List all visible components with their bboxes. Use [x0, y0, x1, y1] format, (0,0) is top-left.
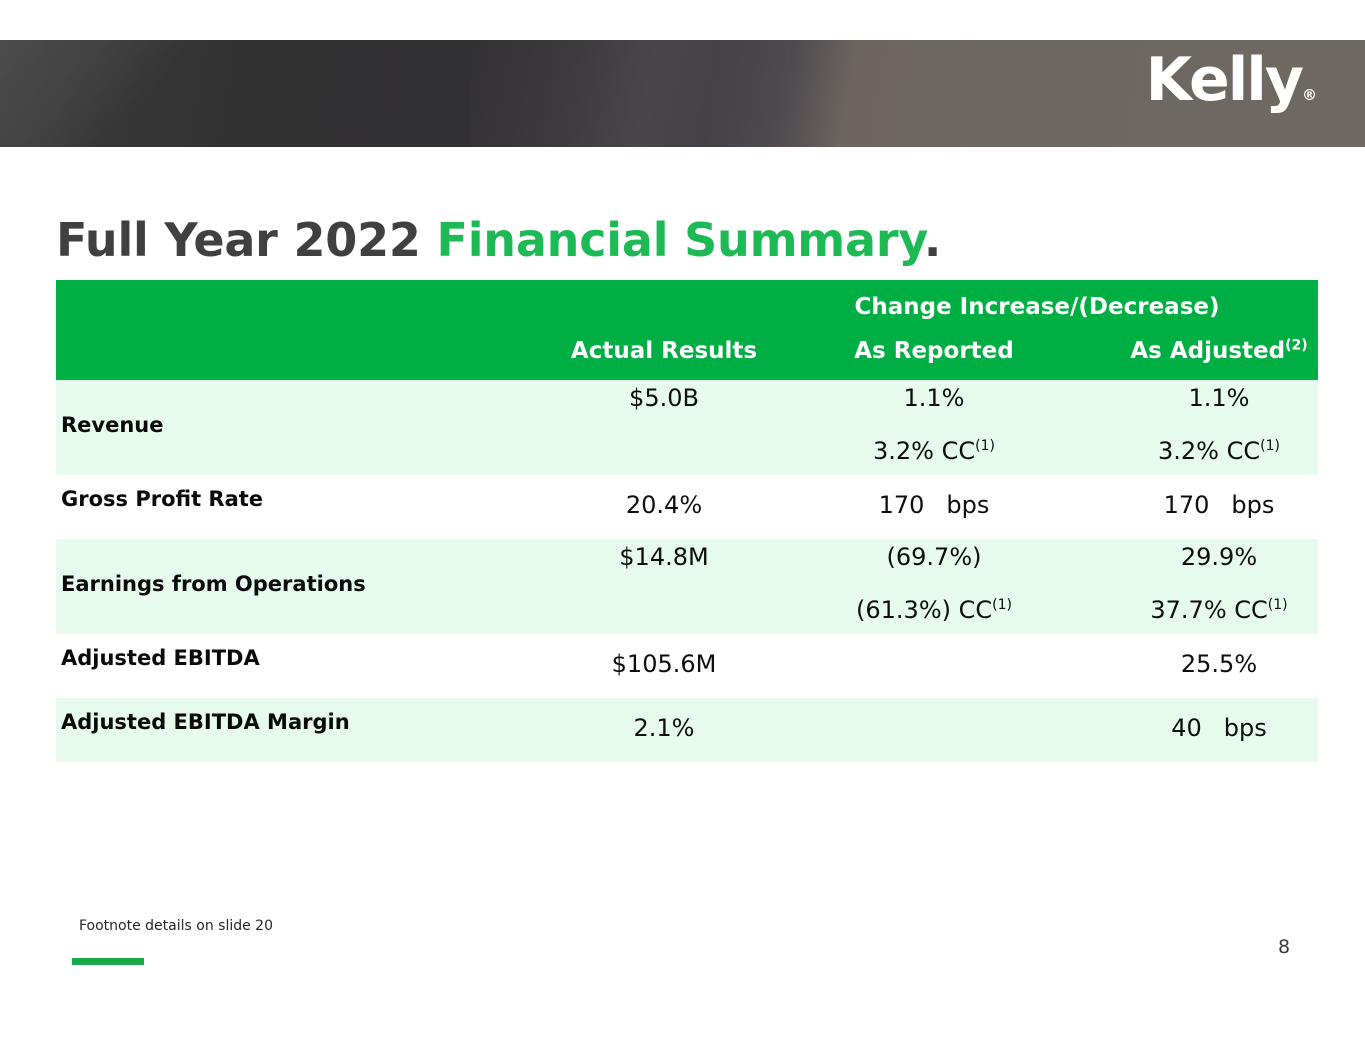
- green-accent-bar: [72, 958, 144, 965]
- row-label-gross-profit-rate: Gross Profit Rate: [61, 487, 263, 511]
- row-label-adjusted-ebitda: Adjusted EBITDA: [61, 646, 260, 670]
- cell-revenue-adjusted-cc-value: 3.2% CC: [1158, 437, 1260, 465]
- table-row: Revenue $5.0B 1.1% 1.1% 3.2% CC(1) 3.2% …: [56, 380, 1318, 475]
- cell-gross-profit-rate-adjusted: 170bps: [1041, 491, 1365, 519]
- cell-adjusted-ebitda-margin-adjusted-number: 40: [1171, 714, 1202, 742]
- cell-earnings-reported-cc-value: (61.3%) CC: [856, 596, 992, 624]
- cell-revenue-adjusted-cc-superscript: (1): [1260, 438, 1280, 454]
- banner-sheen-right: [470, 40, 790, 147]
- table-row: Adjusted EBITDA $105.6M 25.5%: [56, 634, 1318, 698]
- cell-revenue-reported-cc-value: 3.2% CC: [873, 437, 975, 465]
- cell-gross-profit-rate-reported-unit: bps: [946, 491, 989, 519]
- column-group-header: Change Increase/(Decrease): [756, 294, 1318, 320]
- row-label-adjusted-ebitda-margin: Adjusted EBITDA Margin: [61, 710, 350, 734]
- banner-sheen-left: [0, 40, 289, 147]
- cell-revenue-adjusted: 1.1%: [1041, 384, 1365, 412]
- cell-gross-profit-rate-reported-number: 170: [879, 491, 925, 519]
- cell-earnings-adjusted-cc-value: 37.7% CC: [1150, 596, 1267, 624]
- cell-earnings-reported-cc-superscript: (1): [992, 597, 1012, 613]
- page-number: 8: [1278, 936, 1290, 958]
- logo-wordmark: Kelly: [1146, 45, 1302, 115]
- row-label-revenue: Revenue: [61, 413, 164, 437]
- cell-adjusted-ebitda-margin-adjusted-unit: bps: [1224, 714, 1267, 742]
- cell-revenue-adjusted-cc: 3.2% CC(1): [1041, 437, 1365, 465]
- cell-adjusted-ebitda-actual: $105.6M: [481, 650, 847, 678]
- cell-adjusted-ebitda-margin-actual: 2.1%: [481, 714, 847, 742]
- cell-adjusted-ebitda-adjusted: 25.5%: [1041, 650, 1365, 678]
- cell-earnings-adjusted: 29.9%: [1041, 543, 1365, 571]
- cell-earnings-adjusted-cc: 37.7% CC(1): [1041, 596, 1365, 624]
- financial-summary-table: Change Increase/(Decrease) Actual Result…: [56, 280, 1318, 762]
- title-part-dark: Full Year 2022: [56, 213, 437, 267]
- cell-gross-profit-rate-adjusted-number: 170: [1164, 491, 1210, 519]
- cell-revenue-reported-cc-superscript: (1): [975, 438, 995, 454]
- title-part-green: Financial Summary: [437, 213, 924, 267]
- column-header-as-adjusted: As Adjusted(2): [1041, 338, 1365, 364]
- cell-earnings-adjusted-cc-superscript: (1): [1268, 597, 1288, 613]
- column-header-as-adjusted-label: As Adjusted: [1130, 338, 1285, 364]
- table-header: Change Increase/(Decrease) Actual Result…: [56, 280, 1318, 380]
- column-header-as-adjusted-superscript: (2): [1285, 337, 1308, 353]
- footnote-text: Footnote details on slide 20: [79, 918, 273, 934]
- registered-mark-icon: ®: [1302, 86, 1317, 104]
- row-label-earnings-from-operations: Earnings from Operations: [61, 572, 366, 596]
- page-title: Full Year 2022 Financial Summary.: [56, 214, 941, 267]
- table-row: Gross Profit Rate 20.4% 170bps 170bps: [56, 475, 1318, 539]
- table-header-row: Actual Results As Reported As Adjusted(2…: [56, 338, 1318, 378]
- kelly-logo: Kelly®: [1146, 50, 1317, 110]
- cell-gross-profit-rate-adjusted-unit: bps: [1231, 491, 1274, 519]
- table-row: Earnings from Operations $14.8M (69.7%) …: [56, 539, 1318, 634]
- cell-adjusted-ebitda-margin-adjusted: 40bps: [1041, 714, 1365, 742]
- title-period: .: [924, 213, 941, 267]
- table-row: Adjusted EBITDA Margin 2.1% 40bps: [56, 698, 1318, 762]
